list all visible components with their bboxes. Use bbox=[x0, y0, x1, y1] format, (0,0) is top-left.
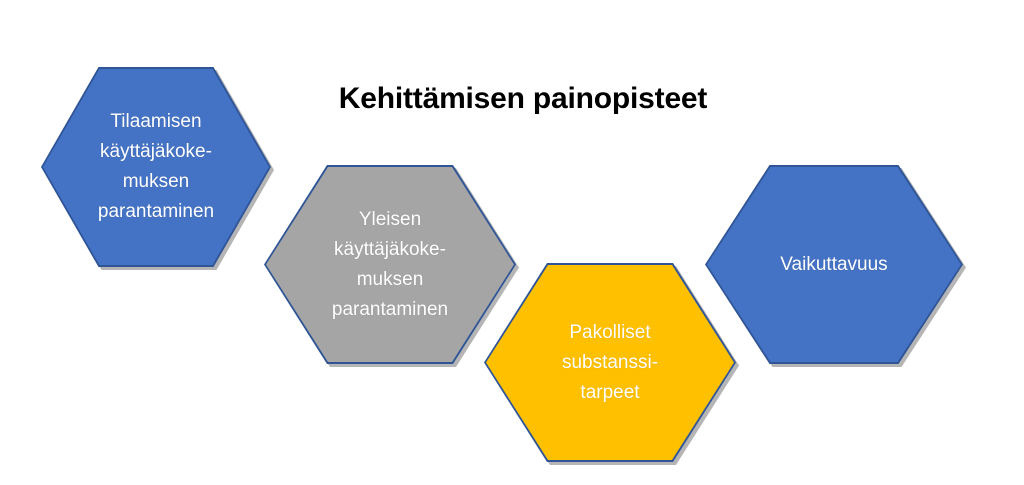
page-title: Kehittämisen painopisteet bbox=[328, 82, 718, 117]
hexagon-node-3-label: Pakolliset substanssi- tarpeet bbox=[533, 318, 687, 408]
hexagon-node-2[interactable]: Yleisen käyttäjäkoke- muksen parantamine… bbox=[264, 165, 516, 364]
hexagon-node-4[interactable]: Vaikuttavuus bbox=[705, 165, 963, 364]
hexagon-node-3[interactable]: Pakolliset substanssi- tarpeet bbox=[484, 263, 736, 462]
hexagon-node-1-label: Tilaamisen käyttäjäkoke- muksen parantam… bbox=[86, 107, 226, 227]
diagram-canvas: Kehittämisen painopisteet Tilaamisen käy… bbox=[0, 0, 1024, 485]
hexagon-node-1[interactable]: Tilaamisen käyttäjäkoke- muksen parantam… bbox=[41, 67, 271, 267]
hexagon-node-4-label: Vaikuttavuus bbox=[755, 250, 912, 280]
hexagon-node-2-label: Yleisen käyttäjäkoke- muksen parantamine… bbox=[313, 205, 467, 325]
